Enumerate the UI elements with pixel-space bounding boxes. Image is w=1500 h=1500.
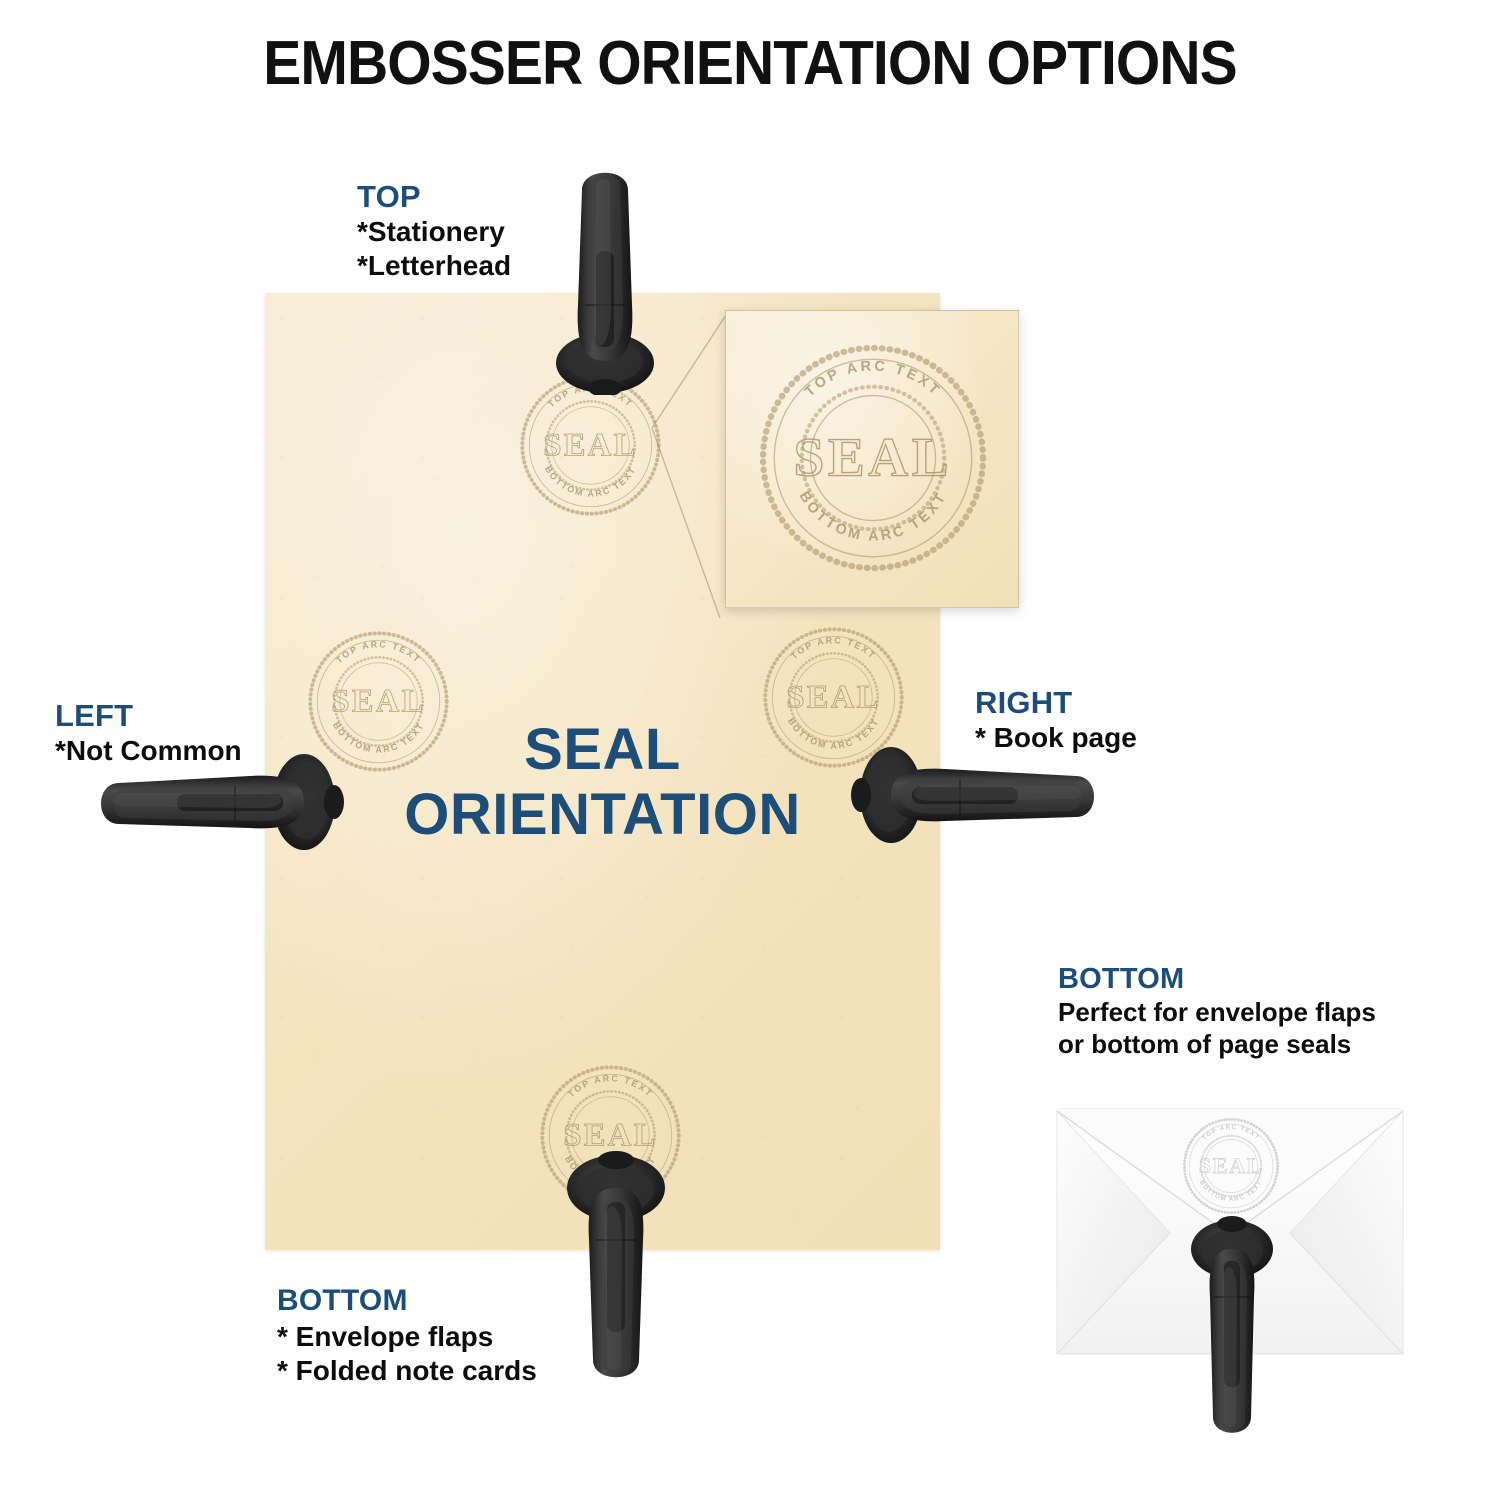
label-left-heading: LEFT (55, 697, 242, 734)
diagram-canvas: EMBOSSER ORIENTATION OPTIONS TOP ARC TEX… (0, 0, 1500, 1500)
label-envelope-line-0: Perfect for envelope flaps (1058, 997, 1376, 1029)
center-caption-line1: SEAL (265, 718, 940, 783)
magnified-seal-panel: TOP ARC TEXT BOTTOM ARC TEXT SEAL (725, 310, 1019, 608)
label-top-line-1: *Letterhead (357, 249, 511, 283)
label-envelope-line-1: or bottom of page seals (1058, 1029, 1376, 1061)
label-bottom-line-0: * Envelope flaps (277, 1320, 537, 1354)
label-top-heading: TOP (357, 178, 511, 215)
center-caption: SEAL ORIENTATION (265, 718, 940, 848)
label-envelope-bottom: BOTTOM Perfect for envelope flaps or bot… (1058, 962, 1376, 1061)
label-left-line-0: *Not Common (55, 734, 242, 768)
label-bottom-line-1: * Folded note cards (277, 1354, 537, 1388)
label-envelope-heading: BOTTOM (1058, 962, 1376, 997)
label-right-line-0: * Book page (975, 721, 1137, 755)
label-left: LEFT *Not Common (55, 697, 242, 768)
label-bottom-heading: BOTTOM (277, 1283, 537, 1320)
label-bottom: BOTTOM * Envelope flaps * Folded note ca… (277, 1283, 537, 1388)
label-right: RIGHT * Book page (975, 684, 1137, 755)
seal-bottom-arc-text: BOTTOM ARC TEXT (796, 489, 951, 545)
page-title: EMBOSSER ORIENTATION OPTIONS (60, 28, 1440, 99)
seal-center-text: SEAL (794, 427, 953, 488)
label-top-line-0: *Stationery (357, 215, 511, 249)
label-right-heading: RIGHT (975, 684, 1137, 721)
envelope-icon: TOP ARC TEXT BOTTOM ARC TEXT SEAL (1055, 1105, 1405, 1358)
label-top: TOP *Stationery *Letterhead (357, 178, 511, 282)
svg-text:TOP ARC TEXT: TOP ARC TEXT (802, 358, 944, 400)
center-caption-line2: ORIENTATION (265, 783, 940, 848)
seal-top-arc-text: TOP ARC TEXT (802, 358, 944, 400)
seal-impression-magnified: TOP ARC TEXT BOTTOM ARC TEXT SEAL (748, 333, 998, 583)
svg-text:BOTTOM ARC TEXT: BOTTOM ARC TEXT (796, 489, 951, 545)
